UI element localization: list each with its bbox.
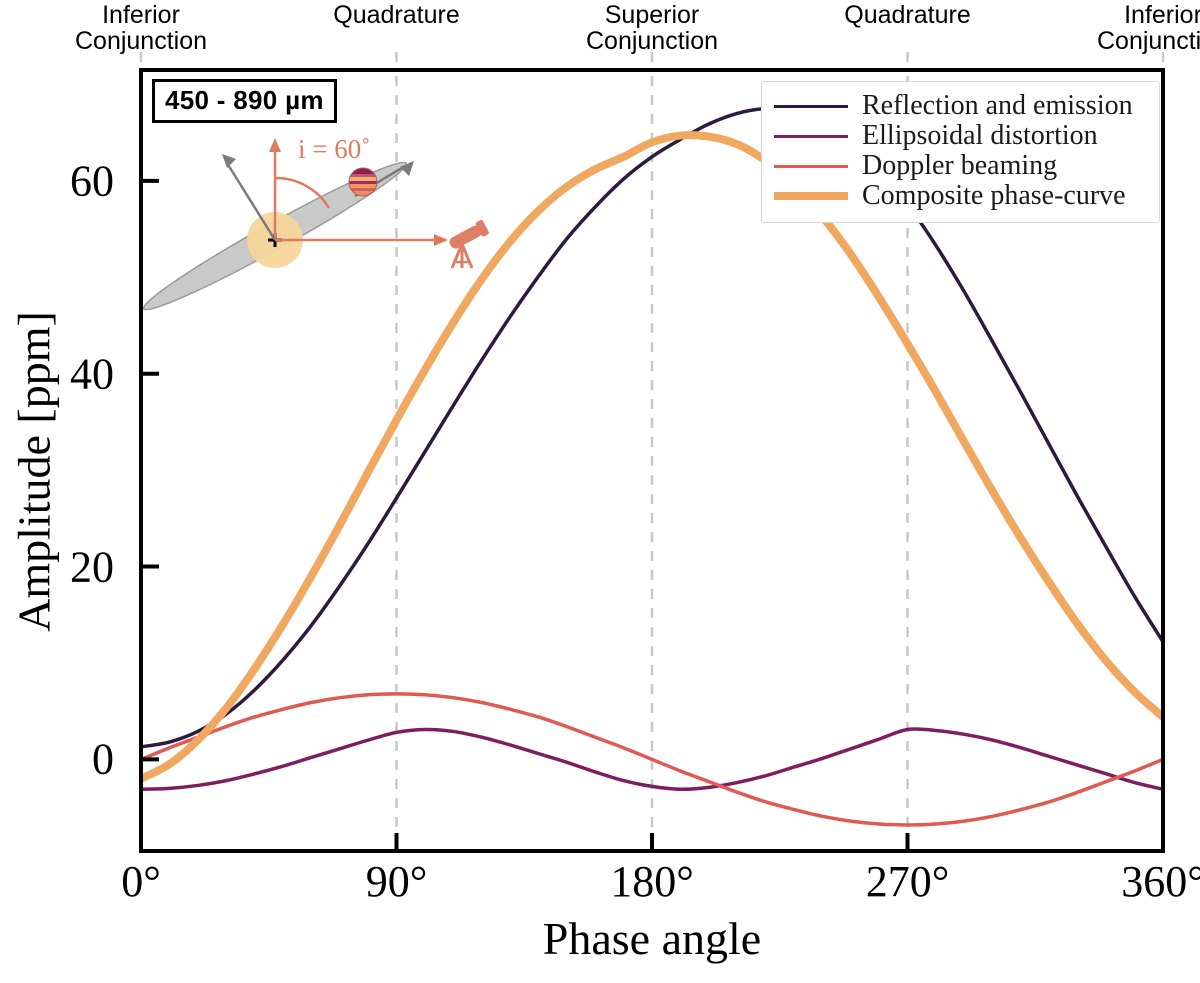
legend: Reflection and emissionEllipsoidal disto… [761,81,1160,223]
telescope-icon [447,219,490,268]
legend-swatch-1 [774,135,848,138]
legend-swatch-3 [774,192,848,200]
planet-icon [349,168,377,197]
orbit-normal-arrowhead [222,154,236,168]
line-of-sight-arrowhead [434,234,448,246]
sky-normal-arrowhead [269,138,281,152]
legend-label-2: Doppler beaming [862,150,1057,182]
legend-item-1[interactable]: Ellipsoidal distortion [774,121,1147,151]
legend-label-1: Ellipsoidal distortion [862,120,1098,152]
wavelength-band-label: 450 - 890 µm [152,79,337,123]
legend-label-3: Composite phase-curve [862,180,1126,212]
legend-label-0: Reflection and emission [862,90,1133,122]
orbit-inset-diagram: i = 60˚ [138,134,490,320]
legend-item-0[interactable]: Reflection and emission [774,91,1147,121]
inclination-label: i = 60˚ [298,134,370,164]
legend-swatch-2 [774,165,848,168]
legend-swatch-0 [774,105,848,108]
legend-item-2[interactable]: Doppler beaming [774,151,1147,181]
legend-item-3[interactable]: Composite phase-curve [774,181,1147,211]
grid-lines-upper-extension [141,52,1163,70]
